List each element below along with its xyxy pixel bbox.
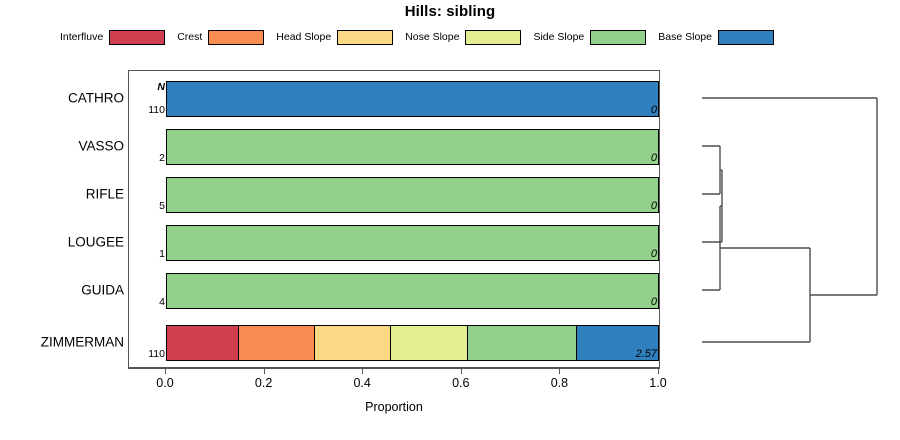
bar-segment — [167, 226, 658, 260]
legend-color-swatch — [337, 30, 393, 45]
stacked-bar — [166, 177, 659, 213]
legend-item-label: Base Slope — [658, 31, 712, 43]
h-value: 0 — [603, 248, 657, 260]
bar-segment — [239, 326, 316, 360]
legend: InterfluveCrestHead SlopeNose SlopeSide … — [60, 26, 780, 48]
stacked-bar — [166, 273, 659, 309]
x-axis-tick-label: 0.8 — [534, 376, 584, 390]
legend-item: Nose Slope — [405, 30, 521, 45]
legend-item: Head Slope — [276, 30, 393, 45]
stacked-bar — [166, 129, 659, 165]
dendrogram — [680, 70, 900, 368]
h-value: 0 — [603, 200, 657, 212]
n-value: 1 — [135, 248, 165, 260]
legend-item-label: Side Slope — [533, 31, 584, 43]
x-axis-tick — [461, 368, 462, 374]
y-axis-labels: CATHROVASSORIFLELOUGEEGUIDAZIMMERMAN — [0, 70, 124, 368]
x-axis-line — [128, 368, 660, 369]
x-axis-tick — [264, 368, 265, 374]
stacked-bar — [166, 81, 659, 117]
legend-color-swatch — [590, 30, 646, 45]
x-axis-tick-label: 0.6 — [436, 376, 486, 390]
n-value: 110 — [135, 104, 165, 116]
x-axis-tick — [165, 368, 166, 374]
stacked-bar — [166, 325, 659, 361]
x-axis-title: Proportion — [128, 400, 660, 414]
y-axis-label: RIFLE — [86, 187, 124, 202]
bar-segment — [391, 326, 468, 360]
legend-item: Interfluve — [60, 30, 165, 45]
stacked-bar — [166, 225, 659, 261]
bar-segment — [167, 274, 658, 308]
bar-segment — [167, 82, 658, 116]
n-value: 2 — [135, 152, 165, 164]
bar-segment — [167, 326, 239, 360]
x-axis-tick-label: 0.0 — [140, 376, 190, 390]
legend-item-label: Nose Slope — [405, 31, 459, 43]
plot-panel: N H 1100205010401102.57 — [128, 70, 660, 368]
x-axis-tick — [362, 368, 363, 374]
y-axis-label: VASSO — [78, 139, 124, 154]
legend-item: Side Slope — [533, 30, 646, 45]
legend-color-swatch — [718, 30, 774, 45]
h-value: 0 — [603, 296, 657, 308]
n-value: 5 — [135, 200, 165, 212]
legend-item-label: Head Slope — [276, 31, 331, 43]
y-axis-label: ZIMMERMAN — [41, 335, 124, 350]
stacked-bars: 1100205010401102.57 — [129, 71, 661, 369]
x-axis-tick-label: 1.0 — [633, 376, 683, 390]
x-axis-tick-label: 0.4 — [337, 376, 387, 390]
bar-segment — [468, 326, 577, 360]
x-axis-tick — [658, 368, 659, 374]
n-value: 110 — [135, 348, 165, 360]
figure-root: Hills: sibling InterfluveCrestHead Slope… — [0, 0, 900, 440]
legend-color-swatch — [465, 30, 521, 45]
h-value: 0 — [603, 152, 657, 164]
bar-segment — [167, 130, 658, 164]
dendrogram-svg — [680, 70, 900, 368]
legend-color-swatch — [208, 30, 264, 45]
legend-item-label: Interfluve — [60, 31, 103, 43]
x-axis-tick-label: 0.2 — [239, 376, 289, 390]
y-axis-label: CATHRO — [68, 91, 124, 106]
page-title: Hills: sibling — [0, 3, 900, 20]
h-value: 2.57 — [603, 348, 657, 360]
x-axis-tick — [559, 368, 560, 374]
n-value: 4 — [135, 296, 165, 308]
legend-item: Base Slope — [658, 30, 774, 45]
bar-segment — [315, 326, 391, 360]
legend-item-label: Crest — [177, 31, 202, 43]
legend-item: Crest — [177, 30, 264, 45]
y-axis-label: LOUGEE — [68, 235, 124, 250]
legend-color-swatch — [109, 30, 165, 45]
bar-segment — [167, 178, 658, 212]
y-axis-label: GUIDA — [81, 283, 124, 298]
h-value: 0 — [603, 104, 657, 116]
